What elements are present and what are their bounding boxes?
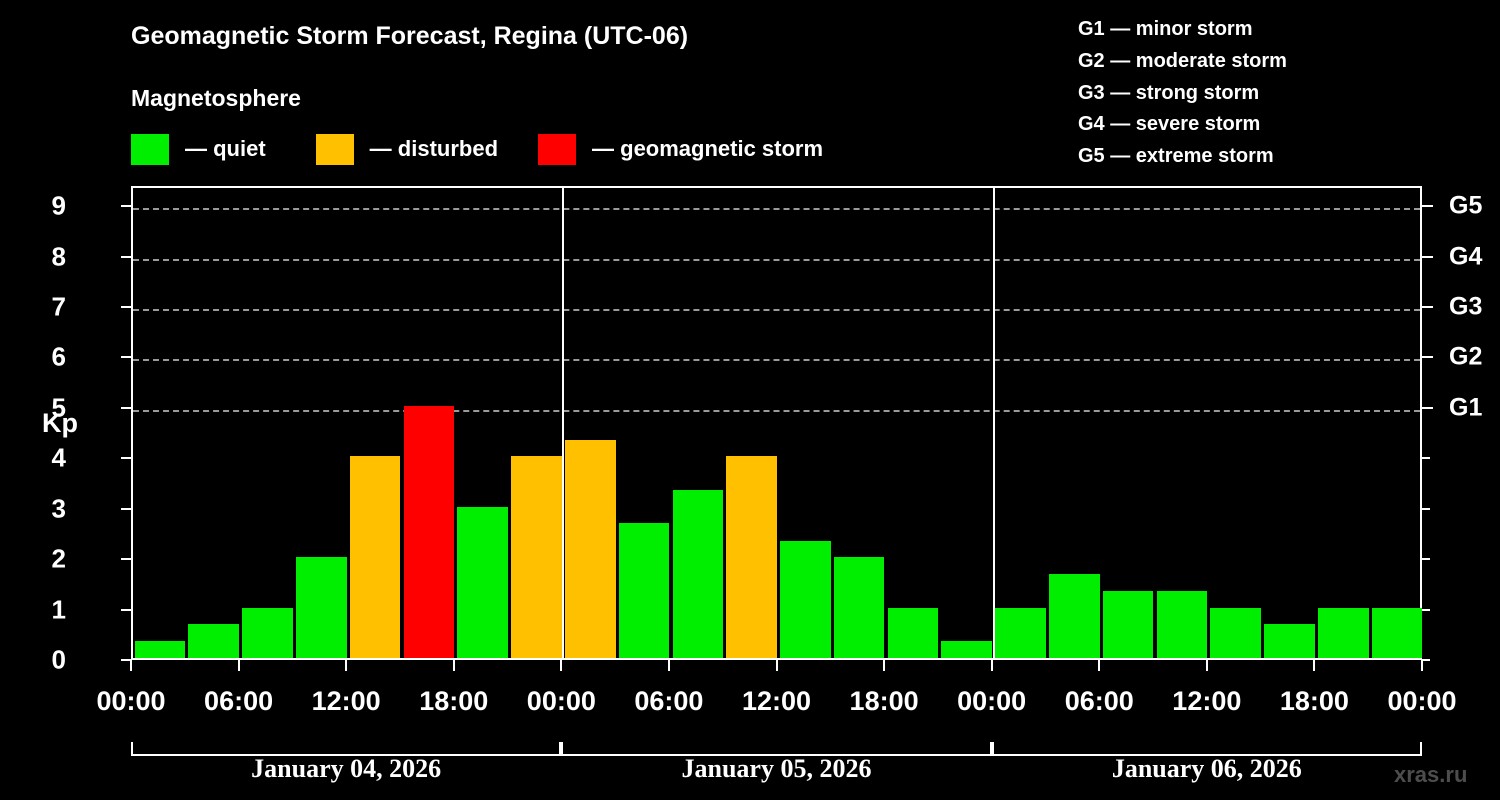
x-tick-mark-6 <box>776 660 778 671</box>
g-tick-label-G5: G5 <box>1449 192 1482 221</box>
g-axis-tick-mark-kp-7 <box>1422 306 1433 308</box>
legend-item-quiet: — quiet <box>131 134 266 165</box>
day-label-1: January 04, 2026 <box>251 754 441 784</box>
y-tick-mark-7 <box>121 306 131 308</box>
y-tick-mark-4 <box>121 457 131 459</box>
x-tick-label-5: 06:00 <box>634 686 703 717</box>
g-legend-row-2: G2 — moderate storm <box>1078 46 1287 78</box>
bar-9 <box>619 523 670 658</box>
g-axis-tick-mark-kp-6 <box>1422 356 1433 358</box>
y-tick-label-3: 3 <box>52 493 66 524</box>
x-tick-mark-3 <box>453 660 455 671</box>
bar-20 <box>1210 608 1261 658</box>
x-tick-label-10: 12:00 <box>1172 686 1241 717</box>
x-tick-mark-2 <box>345 660 347 671</box>
bar-4 <box>350 456 401 658</box>
bar-6 <box>457 507 508 658</box>
bar-2 <box>242 608 293 658</box>
x-tick-mark-7 <box>883 660 885 671</box>
x-tick-mark-8 <box>991 660 993 671</box>
x-tick-mark-5 <box>668 660 670 671</box>
bar-15 <box>941 641 992 658</box>
chart-subtitle: Magnetosphere <box>131 85 301 112</box>
y-tick-mark-6 <box>121 356 131 358</box>
x-tick-label-12: 00:00 <box>1387 686 1456 717</box>
legend-swatch-disturbed <box>316 134 354 165</box>
g-axis-tick-mark-kp-4 <box>1422 457 1430 459</box>
watermark: xras.ru <box>1394 762 1467 788</box>
bar-18 <box>1103 591 1154 658</box>
g-legend-row-1: G1 — minor storm <box>1078 14 1287 46</box>
bar-7 <box>511 456 562 658</box>
bar-17 <box>1049 574 1100 658</box>
legend-swatch-quiet <box>131 134 169 165</box>
g-legend-row-3: G3 — strong storm <box>1078 78 1287 110</box>
bar-23 <box>1372 608 1423 658</box>
y-tick-label-9: 9 <box>52 191 66 222</box>
color-legend: — quiet— disturbed— geomagnetic storm <box>131 133 823 165</box>
x-tick-mark-9 <box>1098 660 1100 671</box>
bar-19 <box>1157 591 1208 658</box>
g-legend-row-5: G5 — extreme storm <box>1078 141 1287 173</box>
y-tick-label-6: 6 <box>52 342 66 373</box>
chart-bars <box>133 188 1420 658</box>
legend-label-disturbed: — disturbed <box>370 136 498 162</box>
y-tick-label-8: 8 <box>52 241 66 272</box>
x-tick-label-3: 18:00 <box>419 686 488 717</box>
x-tick-label-11: 18:00 <box>1280 686 1349 717</box>
g-legend-row-4: G4 — severe storm <box>1078 109 1287 141</box>
bar-21 <box>1264 624 1315 658</box>
x-tick-mark-10 <box>1206 660 1208 671</box>
page-title: Geomagnetic Storm Forecast, Regina (UTC-… <box>131 22 688 51</box>
g-axis-tick-mark-kp-2 <box>1422 558 1430 560</box>
x-tick-label-7: 18:00 <box>850 686 919 717</box>
g-axis-tick-mark-kp-3 <box>1422 508 1430 510</box>
bar-1 <box>188 624 239 658</box>
bar-16 <box>995 608 1046 658</box>
x-tick-mark-4 <box>560 660 562 671</box>
x-tick-label-1: 06:00 <box>204 686 273 717</box>
g-tick-label-G2: G2 <box>1449 343 1482 372</box>
bar-22 <box>1318 608 1369 658</box>
bar-11 <box>726 456 777 658</box>
chart-plot-area <box>131 186 1422 660</box>
g-axis-tick-mark-kp-9 <box>1422 205 1433 207</box>
legend-swatch-storm <box>538 134 576 165</box>
bar-12 <box>780 541 831 658</box>
x-tick-label-6: 12:00 <box>742 686 811 717</box>
x-tick-mark-11 <box>1313 660 1315 671</box>
bar-8 <box>565 440 616 658</box>
legend-label-storm: — geomagnetic storm <box>592 136 823 162</box>
legend-item-disturbed: — disturbed <box>316 134 498 165</box>
x-tick-label-4: 00:00 <box>527 686 596 717</box>
bar-5 <box>404 406 455 658</box>
bar-0 <box>135 641 186 658</box>
y-tick-mark-5 <box>121 407 131 409</box>
bar-10 <box>673 490 724 658</box>
x-tick-mark-0 <box>130 660 132 671</box>
x-tick-label-0: 00:00 <box>96 686 165 717</box>
bar-13 <box>834 557 885 658</box>
y-tick-mark-2 <box>121 558 131 560</box>
bar-3 <box>296 557 347 658</box>
g-axis-tick-mark-kp-1 <box>1422 609 1430 611</box>
day-label-2: January 05, 2026 <box>682 754 872 784</box>
x-tick-mark-12 <box>1421 660 1423 671</box>
y-tick-mark-9 <box>121 205 131 207</box>
bar-14 <box>888 608 939 658</box>
y-tick-label-2: 2 <box>52 544 66 575</box>
g-scale-legend: G1 — minor stormG2 — moderate stormG3 — … <box>1078 14 1287 173</box>
day-label-3: January 06, 2026 <box>1112 754 1302 784</box>
y-tick-mark-3 <box>121 508 131 510</box>
y-tick-label-7: 7 <box>52 292 66 323</box>
g-axis-tick-mark-kp-5 <box>1422 407 1433 409</box>
y-tick-label-1: 1 <box>52 594 66 625</box>
x-tick-mark-1 <box>238 660 240 671</box>
legend-item-storm: — geomagnetic storm <box>538 134 823 165</box>
y-axis-label: Kp <box>42 408 78 439</box>
y-tick-mark-8 <box>121 256 131 258</box>
y-tick-label-4: 4 <box>52 443 66 474</box>
x-tick-label-8: 00:00 <box>957 686 1026 717</box>
g-axis-tick-mark-kp-0 <box>1422 659 1430 661</box>
y-tick-mark-1 <box>121 609 131 611</box>
g-tick-label-G4: G4 <box>1449 242 1482 271</box>
x-tick-label-2: 12:00 <box>312 686 381 717</box>
g-tick-label-G3: G3 <box>1449 293 1482 322</box>
g-axis-tick-mark-kp-8 <box>1422 256 1433 258</box>
g-tick-label-G1: G1 <box>1449 393 1482 422</box>
y-tick-label-0: 0 <box>52 645 66 676</box>
x-tick-label-9: 06:00 <box>1065 686 1134 717</box>
legend-label-quiet: — quiet <box>185 136 266 162</box>
